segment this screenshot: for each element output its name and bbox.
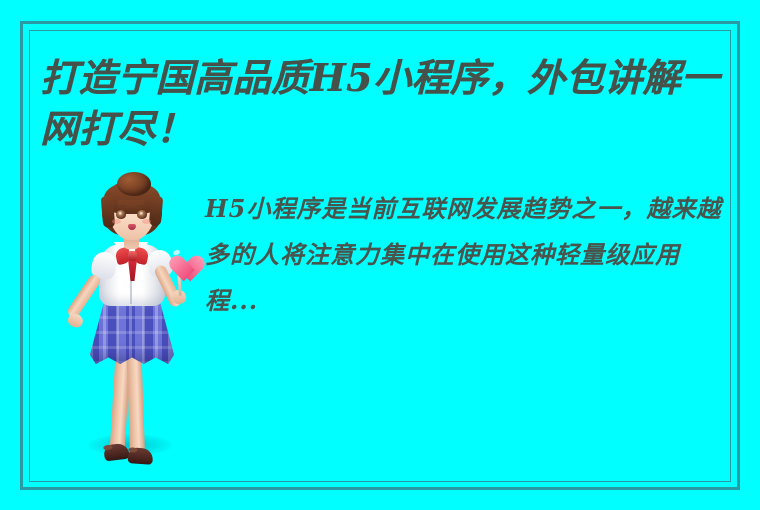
hair-bun (117, 172, 151, 196)
arm-left (66, 273, 103, 320)
shoe-tassel-left (103, 444, 113, 450)
schoolgirl-illustration (52, 172, 212, 472)
poster-summary-text: H5小程序是当前互联网发展趋势之一，越来越多的人将注意力集中在使用这种轻量级应用… (205, 186, 733, 324)
plaid-skirt (90, 298, 174, 364)
blush-right (142, 219, 151, 224)
poster-canvas: 打造宁国高品质H5小程序，外包讲解一网打尽！ H5小程序是当前互联网发展趋势之一… (0, 0, 760, 510)
bowtie-knot (128, 251, 137, 261)
blush-left (112, 219, 121, 224)
red-bowtie (116, 248, 148, 265)
eye-right (137, 210, 147, 219)
shoe-tassel-right (128, 447, 137, 453)
eye-left (116, 210, 126, 219)
heart-lollipop-icon (165, 244, 195, 272)
poster-headline: 打造宁国高品质H5小程序，外包讲解一网打尽！ (40, 52, 730, 154)
